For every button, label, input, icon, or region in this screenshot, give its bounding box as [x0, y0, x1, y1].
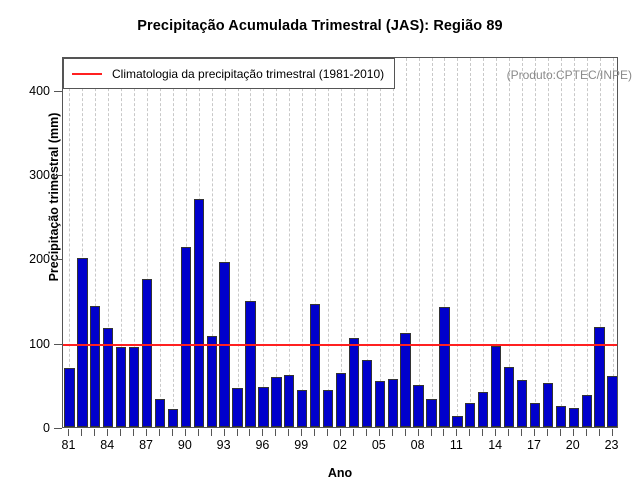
x-tick-label: 05: [364, 438, 394, 452]
x-tick: [560, 429, 561, 436]
x-tick-label: 20: [558, 438, 588, 452]
x-tick: [211, 429, 212, 436]
x-tick: [81, 429, 82, 436]
y-tick-label: 0: [0, 421, 50, 435]
x-tick: [495, 429, 496, 436]
x-tick: [327, 429, 328, 436]
x-tick: [456, 429, 457, 436]
x-tick: [431, 429, 432, 436]
x-tick: [159, 429, 160, 436]
x-tick: [599, 429, 600, 436]
x-tick-label: 23: [597, 438, 627, 452]
x-tick-label: 81: [53, 438, 83, 452]
legend-entry-label: Climatologia da precipitação trimestral …: [112, 67, 384, 81]
x-tick: [573, 429, 574, 436]
x-tick: [443, 429, 444, 436]
x-tick: [120, 429, 121, 436]
x-tick-label: 84: [92, 438, 122, 452]
x-tick-label: 99: [286, 438, 316, 452]
x-tick: [482, 429, 483, 436]
x-tick: [547, 429, 548, 436]
x-tick-label: 02: [325, 438, 355, 452]
y-tick: [54, 259, 62, 260]
climatology-reference-line: [63, 344, 617, 346]
x-tick: [224, 429, 225, 436]
page-title: Precipitação Acumulada Trimestral (JAS):…: [0, 18, 640, 34]
climatology-line-layer: [63, 58, 617, 427]
x-tick-label: 87: [131, 438, 161, 452]
x-tick: [288, 429, 289, 436]
y-tick: [54, 91, 62, 92]
x-tick: [586, 429, 587, 436]
x-tick: [133, 429, 134, 436]
x-tick: [392, 429, 393, 436]
y-tick-label: 100: [0, 337, 50, 351]
x-tick: [275, 429, 276, 436]
y-tick-label: 200: [0, 252, 50, 266]
x-tick: [301, 429, 302, 436]
x-tick: [534, 429, 535, 436]
x-tick: [185, 429, 186, 436]
x-tick: [107, 429, 108, 436]
x-tick: [612, 429, 613, 436]
x-tick: [262, 429, 263, 436]
product-credit: (Produto:CPTEC/INPE): [507, 68, 632, 82]
x-tick: [508, 429, 509, 436]
y-tick: [54, 428, 62, 429]
x-tick: [405, 429, 406, 436]
x-tick: [198, 429, 199, 436]
x-tick: [379, 429, 380, 436]
y-tick-label: 300: [0, 168, 50, 182]
x-tick-label: 17: [519, 438, 549, 452]
x-tick: [172, 429, 173, 436]
x-tick: [418, 429, 419, 436]
x-tick: [469, 429, 470, 436]
precipitation-bar-chart: Precipitação Acumulada Trimestral (JAS):…: [0, 0, 640, 500]
x-tick-label: 93: [209, 438, 239, 452]
x-tick: [146, 429, 147, 436]
x-tick-label: 14: [480, 438, 510, 452]
x-tick: [68, 429, 69, 436]
x-tick: [237, 429, 238, 436]
x-tick: [340, 429, 341, 436]
legend: Climatologia da precipitação trimestral …: [63, 58, 395, 89]
x-tick-label: 11: [441, 438, 471, 452]
x-tick: [314, 429, 315, 436]
y-tick: [54, 175, 62, 176]
x-tick: [94, 429, 95, 436]
plot-area: [62, 57, 618, 428]
x-tick-label: 08: [403, 438, 433, 452]
y-tick-label: 400: [0, 84, 50, 98]
x-axis-label: Ano: [62, 466, 618, 480]
x-tick: [353, 429, 354, 436]
x-tick: [249, 429, 250, 436]
x-tick-label: 96: [247, 438, 277, 452]
x-tick: [366, 429, 367, 436]
climatology-line-swatch-icon: [72, 73, 102, 75]
x-tick: [521, 429, 522, 436]
x-tick-label: 90: [170, 438, 200, 452]
y-tick: [54, 344, 62, 345]
